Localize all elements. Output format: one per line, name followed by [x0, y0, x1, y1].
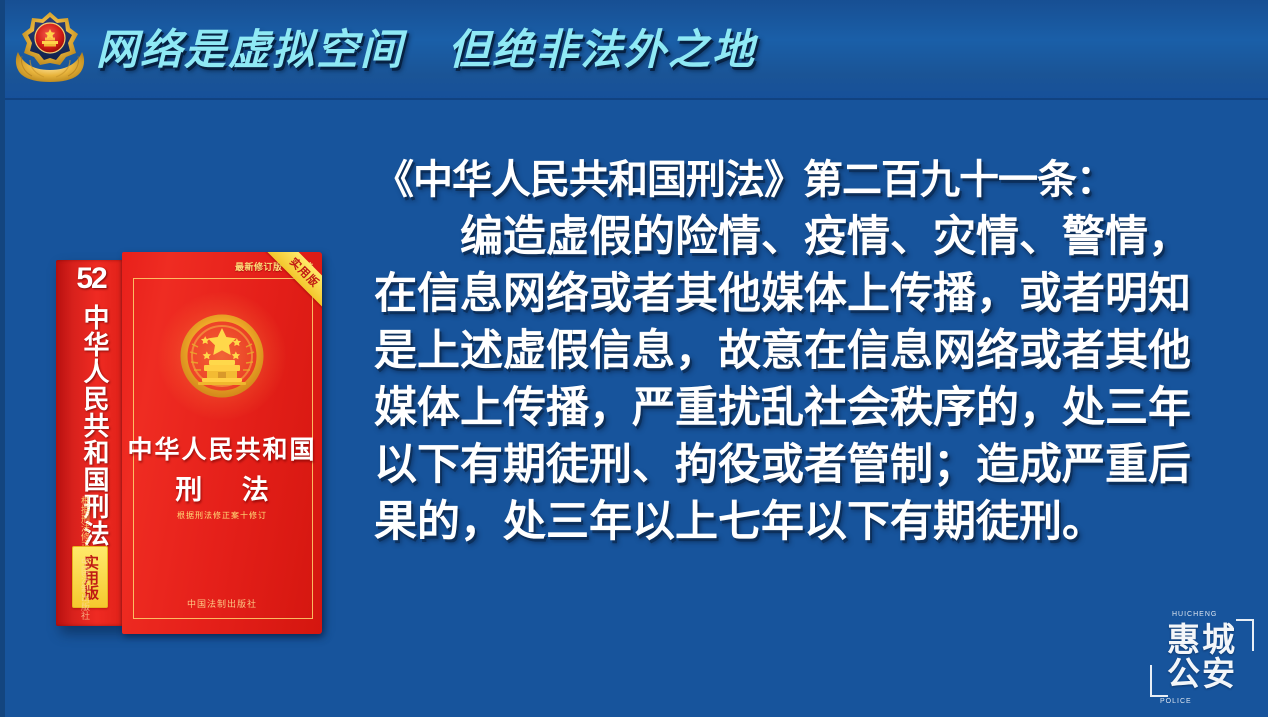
book-spine: 52 中华人民共和国刑法 根据刑法修正案十修订 实用版 中国法制出版社 [56, 260, 124, 626]
book-front-cover: 最新修订版 · 刑 法 实用版 [122, 252, 322, 634]
law-text-line: 在信息网络或者其他媒体上传播，或者明知 [374, 266, 1244, 323]
law-article-heading: 《中华人民共和国刑法》第二百九十一条： [374, 152, 1244, 209]
huicheng-police-watermark: HUICHENG 惠城 公安 POLICE [1150, 613, 1254, 705]
slide-canvas: 网络是虚拟空间 但绝非法外之地 52 中华人民共和国刑法 根据刑法修正案十修订 … [0, 0, 1268, 717]
law-text-line: 果的，处三年以上七年以下有期徒刑。 [374, 494, 1244, 551]
book-cover-title-line2: 刑 法 [122, 468, 322, 507]
law-text-line: 是上述虚假信息，故意在信息网络或者其他 [374, 323, 1244, 380]
book-cover-publisher: 中国法制出版社 [122, 597, 322, 610]
watermark-top-label: HUICHENG [1172, 611, 1217, 618]
law-article-text: 《中华人民共和国刑法》第二百九十一条： 编造虚假的险情、疫情、灾情、警情， 在信… [374, 152, 1244, 551]
book-cover-title-line1: 中华人民共和国 [122, 430, 322, 466]
law-text-line: 以下有期徒刑、拘役或者管制；造成严重后 [374, 437, 1244, 494]
book-spine-number: 52 [62, 262, 120, 296]
header-slogan: 网络是虚拟空间 但绝非法外之地 [96, 10, 756, 90]
book-spine-tag: 实用版 [72, 546, 108, 608]
watermark-characters: 惠城 公安 [1154, 623, 1250, 691]
law-text-line: 媒体上传播，严重扰乱社会秩序的，处三年 [374, 380, 1244, 437]
watermark-bottom-label: POLICE [1160, 698, 1192, 705]
criminal-law-book-image: 52 中华人民共和国刑法 根据刑法修正案十修订 实用版 中国法制出版社 最新修订… [52, 252, 327, 634]
national-emblem-icon [176, 310, 268, 402]
left-edge-strip [0, 0, 5, 717]
book-spine-publisher: 中国法制出版社 [80, 557, 90, 620]
law-text-line: 编造虚假的险情、疫情、灾情、警情， [374, 209, 1244, 266]
header-banner: 网络是虚拟空间 但绝非法外之地 [0, 0, 1268, 100]
book-cover-subtitle: 根据刑法修正案十修订 [122, 510, 322, 521]
watermark-char-line1: 惠城 [1154, 623, 1250, 657]
watermark-char-line2: 公安 [1154, 657, 1250, 691]
police-badge-icon [12, 8, 88, 88]
